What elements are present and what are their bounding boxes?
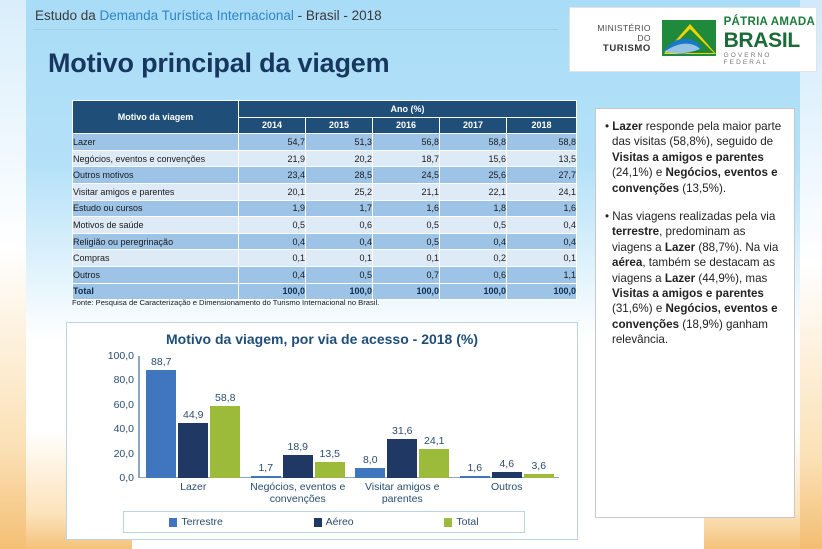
legend-item-total[interactable]: Total — [444, 516, 478, 528]
bar-value-label: 13,5 — [320, 448, 340, 460]
cell-value: 21,9 — [239, 150, 306, 167]
table-source-note: Fonte: Pesquisa de Caracterização e Dime… — [72, 298, 379, 307]
insight-text: (44,9%), mas — [695, 272, 767, 285]
bar-value-label: 24,1 — [424, 435, 444, 447]
x-axis-label: Lazer — [141, 482, 246, 494]
insight-text: (31,6%) e — [612, 302, 666, 315]
cell-value: 100,0 — [373, 283, 440, 300]
bar-value-label: 8,0 — [363, 454, 378, 466]
page-title: Motivo principal da viagem — [48, 48, 389, 79]
legend-swatch-icon — [169, 518, 177, 527]
left-edge-gradient — [0, 0, 26, 549]
bar-value-label: 88,7 — [151, 356, 171, 368]
ministry-label: MINISTÉRIO DO TURISMO — [584, 24, 651, 54]
cell-value: 51,3 — [306, 134, 373, 151]
bar-value-label: 3,6 — [531, 460, 546, 472]
row-label: Outros motivos — [73, 167, 239, 184]
insight-text: (88,7%). Na via — [695, 241, 778, 254]
bar-total: 13,5 — [315, 462, 345, 478]
row-label: Lazer — [73, 134, 239, 151]
table-row: Compras0,10,10,10,20,1 — [73, 250, 577, 267]
bar-value-label: 18,9 — [288, 441, 308, 453]
motive-table-container: Motivo da viagem Ano (%) 201420152016201… — [72, 100, 576, 300]
header-year-group: Ano (%) — [239, 101, 577, 118]
header-motive: Motivo da viagem — [73, 101, 239, 134]
bar-group: 88,744,958,8 — [141, 356, 246, 478]
cell-value: 23,4 — [239, 167, 306, 184]
legend-item-terrestre[interactable]: Terrestre — [169, 516, 222, 528]
cell-value: 1,6 — [507, 200, 577, 217]
insight-text: (13,5%). — [679, 182, 726, 195]
bar-group: 1,64,63,6 — [455, 356, 560, 478]
insight-bullet: • Lazer responde pela maior parte das vi… — [605, 119, 785, 196]
bar-value-label: 1,7 — [258, 462, 273, 474]
legend-label: Terrestre — [181, 516, 222, 528]
cell-value: 13,5 — [507, 150, 577, 167]
brasil-flag-icon — [662, 20, 716, 60]
chart-panel: Motivo da viagem, por via de acesso - 20… — [66, 322, 578, 540]
bar-areo: 44,9 — [178, 423, 208, 478]
row-label: Outros — [73, 266, 239, 283]
table-row: Negócios, eventos e convenções21,920,218… — [73, 150, 577, 167]
breadcrumb-highlight: Demanda Turística Internacional — [100, 8, 294, 23]
cell-value: 0,4 — [507, 217, 577, 234]
legend-label: Total — [456, 516, 478, 528]
table-row: Lazer54,751,356,858,858,8 — [73, 134, 577, 151]
bar-group: 1,718,913,5 — [246, 356, 351, 478]
table-head: Motivo da viagem Ano (%) 201420152016201… — [73, 101, 577, 134]
cell-value: 15,6 — [440, 150, 507, 167]
brand-line-2: BRASIL — [724, 30, 816, 51]
table-row: Outros0,40,50,70,61,1 — [73, 266, 577, 283]
table-head-row-1: Motivo da viagem Ano (%) — [73, 101, 577, 118]
table-row: Estudo ou cursos1,91,71,61,81,6 — [73, 200, 577, 217]
cell-value: 20,1 — [239, 183, 306, 200]
row-label: Motivos de saúde — [73, 217, 239, 234]
bar-value-label: 1,6 — [467, 462, 482, 474]
cell-value: 0,4 — [507, 233, 577, 250]
cell-value: 22,1 — [440, 183, 507, 200]
y-axis-tick: 40,0 — [114, 423, 134, 435]
header-year-2015: 2015 — [306, 117, 373, 134]
cell-value: 100,0 — [440, 283, 507, 300]
cell-value: 28,5 — [306, 167, 373, 184]
cell-value: 0,7 — [373, 266, 440, 283]
insight-emphasis: Visitas a amigos e parentes — [612, 151, 764, 164]
y-axis-tick: 0,0 — [119, 472, 134, 484]
ministry-line-2: TURISMO — [584, 44, 651, 55]
bar-areo: 4,6 — [492, 472, 522, 478]
bar-total: 58,8 — [210, 406, 240, 478]
cell-value: 0,5 — [373, 233, 440, 250]
chart-legend: TerrestreAéreoTotal — [123, 511, 525, 533]
bar-terrestre: 8,0 — [355, 468, 385, 478]
bar-terrestre: 1,6 — [460, 476, 490, 478]
header-year-2016: 2016 — [373, 117, 440, 134]
table-row: Religião ou peregrinação0,40,40,50,40,4 — [73, 233, 577, 250]
bar-areo: 31,6 — [387, 439, 417, 478]
cell-value: 56,8 — [373, 134, 440, 151]
bar-value-label: 44,9 — [183, 409, 203, 421]
row-label: Visitar amigos e parentes — [73, 183, 239, 200]
bar-total: 24,1 — [419, 449, 449, 478]
cell-value: 0,1 — [239, 250, 306, 267]
cell-value: 0,4 — [239, 233, 306, 250]
cell-value: 0,1 — [373, 250, 440, 267]
bar-value-label: 4,6 — [499, 458, 514, 470]
government-logo: MINISTÉRIO DO TURISMO PÁTRIA AMADA BRASI… — [569, 7, 817, 72]
insight-emphasis: Visitas a amigos e parentes — [612, 287, 764, 300]
cell-value: 1,8 — [440, 200, 507, 217]
cell-value: 58,8 — [440, 134, 507, 151]
insight-text: • Nas viagens realizadas pela via — [605, 210, 775, 223]
chart-plot-area: 0,020,040,060,080,0100,088,744,958,8Laze… — [141, 356, 559, 478]
x-axis-label: Outros — [455, 482, 560, 494]
insights-panel: • Lazer responde pela maior parte das vi… — [595, 108, 795, 518]
cell-value: 100,0 — [507, 283, 577, 300]
x-axis-label: Visitar amigos e parentes — [350, 482, 455, 506]
cell-value: 18,7 — [373, 150, 440, 167]
legend-swatch-icon — [444, 518, 452, 527]
header-year-2017: 2017 — [440, 117, 507, 134]
cell-value: 54,7 — [239, 134, 306, 151]
cell-value: 0,4 — [306, 233, 373, 250]
bar-value-label: 31,6 — [392, 425, 412, 437]
cell-value: 24,5 — [373, 167, 440, 184]
table-row: Motivos de saúde0,50,60,50,50,4 — [73, 217, 577, 234]
insight-emphasis: terrestre — [612, 225, 659, 238]
cell-value: 0,5 — [373, 217, 440, 234]
bar-group: 8,031,624,1 — [350, 356, 455, 478]
cell-value: 1,6 — [373, 200, 440, 217]
row-label: Estudo ou cursos — [73, 200, 239, 217]
insight-emphasis: Lazer — [665, 241, 695, 254]
cell-value: 21,1 — [373, 183, 440, 200]
cell-value: 1,7 — [306, 200, 373, 217]
bar-value-label: 58,8 — [215, 392, 235, 404]
cell-value: 0,5 — [306, 266, 373, 283]
insight-emphasis: Lazer — [665, 272, 695, 285]
insight-emphasis: Lazer — [612, 120, 642, 133]
legend-label: Aéreo — [326, 516, 354, 528]
y-axis-tick: 60,0 — [114, 399, 134, 411]
cell-value: 25,6 — [440, 167, 507, 184]
cell-value: 20,2 — [306, 150, 373, 167]
row-label: Compras — [73, 250, 239, 267]
brand-line-3: GOVERNO FEDERAL — [724, 53, 816, 66]
row-label: Negócios, eventos e convenções — [73, 150, 239, 167]
row-label: Religião ou peregrinação — [73, 233, 239, 250]
cell-value: 0,1 — [507, 250, 577, 267]
y-axis-line — [138, 356, 140, 478]
bar-total: 3,6 — [524, 474, 554, 478]
insight-bullet: • Nas viagens realizadas pela via terres… — [605, 209, 785, 348]
chart-title: Motivo da viagem, por via de acesso - 20… — [67, 331, 577, 347]
breadcrumb-prefix: Estudo da — [35, 8, 100, 23]
insight-text: (24,1%) e — [612, 166, 666, 179]
cell-value: 0,6 — [440, 266, 507, 283]
cell-value: 1,1 — [507, 266, 577, 283]
brand-label: PÁTRIA AMADA BRASIL GOVERNO FEDERAL — [724, 13, 816, 66]
cell-value: 0,4 — [239, 266, 306, 283]
cell-value: 27,7 — [507, 167, 577, 184]
y-axis-tick: 80,0 — [114, 374, 134, 386]
legend-swatch-icon — [314, 518, 322, 527]
cell-value: 58,8 — [507, 134, 577, 151]
y-axis-tick: 100,0 — [108, 350, 134, 362]
cell-value: 0,5 — [239, 217, 306, 234]
bar-areo: 18,9 — [283, 455, 313, 478]
breadcrumb-suffix: - Brasil - 2018 — [294, 8, 382, 23]
cell-value: 25,2 — [306, 183, 373, 200]
header-divider — [33, 29, 558, 30]
legend-item-areo[interactable]: Aéreo — [314, 516, 354, 528]
cell-value: 1,9 — [239, 200, 306, 217]
cell-value: 0,1 — [306, 250, 373, 267]
motive-table: Motivo da viagem Ano (%) 201420152016201… — [72, 100, 577, 300]
cell-value: 0,2 — [440, 250, 507, 267]
right-edge-gradient — [800, 0, 822, 549]
cell-value: 0,6 — [306, 217, 373, 234]
table-row: Visitar amigos e parentes20,125,221,122,… — [73, 183, 577, 200]
bar-terrestre: 88,7 — [146, 370, 176, 478]
table-body: Lazer54,751,356,858,858,8Negócios, event… — [73, 134, 577, 300]
insight-emphasis: aérea — [612, 256, 642, 269]
cell-value: 24,1 — [507, 183, 577, 200]
cell-value: 0,5 — [440, 217, 507, 234]
header-year-2014: 2014 — [239, 117, 306, 134]
table-row: Outros motivos23,428,524,525,627,7 — [73, 167, 577, 184]
brand-line-1: PÁTRIA AMADA — [724, 16, 816, 28]
x-axis-label: Negócios, eventos e convenções — [246, 482, 351, 506]
header-year-2018: 2018 — [507, 117, 577, 134]
bar-terrestre: 1,7 — [251, 476, 281, 478]
cell-value: 0,4 — [440, 233, 507, 250]
y-axis-tick: 20,0 — [114, 448, 134, 460]
ministry-line-1: MINISTÉRIO DO — [584, 24, 651, 44]
breadcrumb: Estudo da Demanda Turística Internaciona… — [35, 8, 382, 23]
